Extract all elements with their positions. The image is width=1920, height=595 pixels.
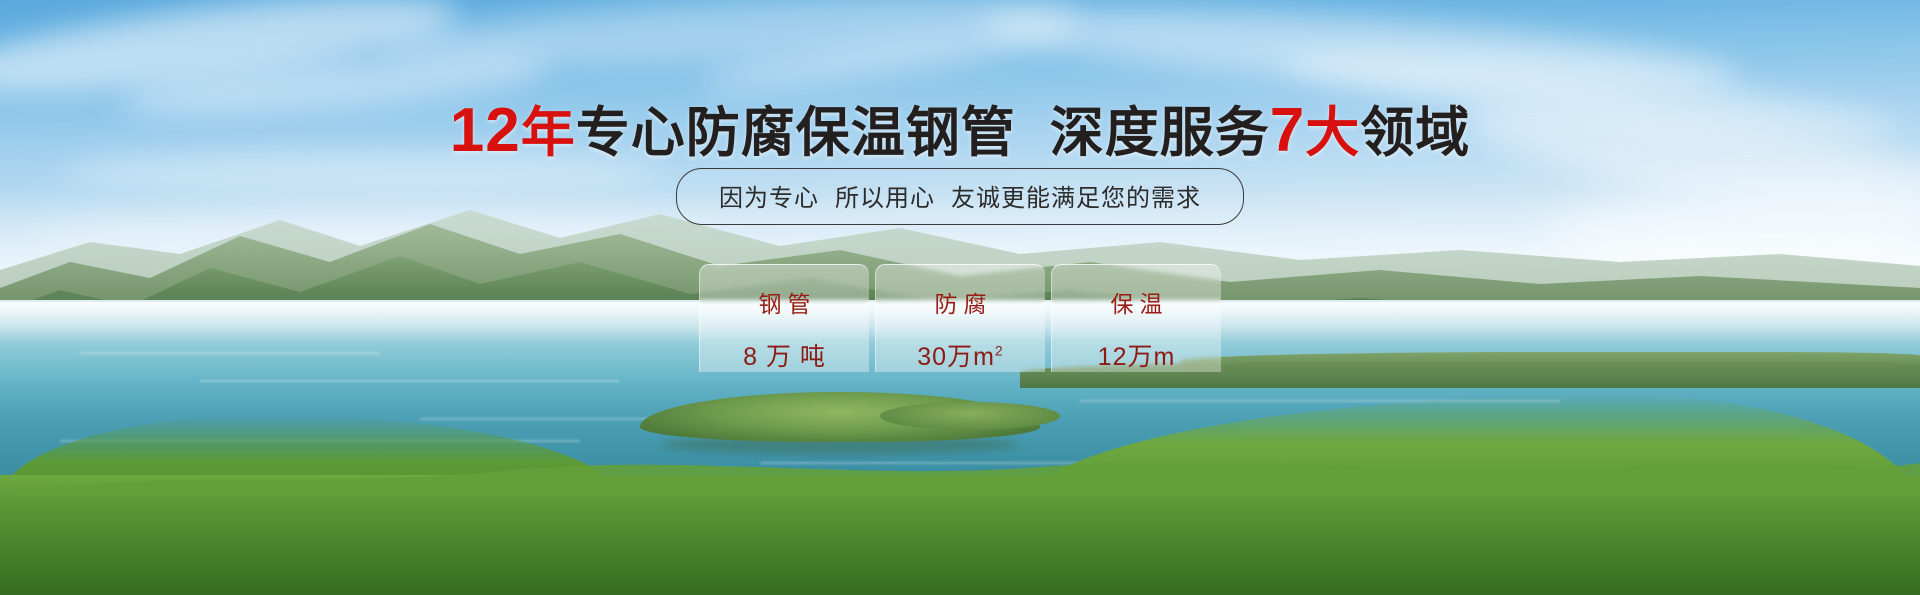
stat-card-label: 保温 bbox=[1052, 285, 1221, 319]
headline-seven-unit: 大 bbox=[1305, 103, 1360, 163]
stat-card-value-sup: 2 bbox=[995, 343, 1004, 359]
headline-part2: 深度服务 bbox=[1050, 103, 1270, 163]
headline-years-number: 12 bbox=[450, 96, 521, 165]
stat-card-label: 钢管 bbox=[700, 285, 869, 319]
stat-card-list: 钢管 8 万 吨 防腐 30万m2 保温 12万m bbox=[0, 264, 1920, 372]
stat-card-gangguan[interactable]: 钢管 8 万 吨 bbox=[699, 264, 869, 372]
stat-card-value-text: 8 万 吨 bbox=[743, 343, 826, 371]
stat-card-value: 30万m2 bbox=[876, 337, 1045, 373]
subtitle-segment-1: 因为专心 bbox=[719, 185, 819, 212]
stat-card-fangfu[interactable]: 防腐 30万m2 bbox=[875, 264, 1045, 372]
stat-card-baowen[interactable]: 保温 12万m bbox=[1051, 264, 1221, 372]
subtitle-segment-3: 友诚更能满足您的需求 bbox=[951, 185, 1201, 212]
page-title: 12年专心防腐保温钢管深度服务7大领域 bbox=[0, 88, 1920, 167]
water-ripple bbox=[200, 380, 620, 382]
subtitle-container: 因为专心所以用心友诚更能满足您的需求 bbox=[0, 168, 1920, 225]
subtitle-segment-2: 所以用心 bbox=[835, 185, 935, 212]
stat-card-value: 12万m bbox=[1052, 337, 1221, 373]
headline-part3: 领域 bbox=[1360, 103, 1470, 163]
headline-seven-number: 7 bbox=[1270, 96, 1305, 165]
stat-card-value: 8 万 吨 bbox=[700, 337, 869, 373]
subtitle-pill: 因为专心所以用心友诚更能满足您的需求 bbox=[676, 168, 1244, 225]
stat-card-label: 防腐 bbox=[876, 285, 1045, 319]
stat-card-value-text: 30万m bbox=[917, 343, 995, 371]
stat-card-value-text: 12万m bbox=[1098, 343, 1176, 371]
hero-banner: 12年专心防腐保温钢管深度服务7大领域 因为专心所以用心友诚更能满足您的需求 钢… bbox=[0, 0, 1920, 595]
headline-years-unit: 年 bbox=[521, 103, 576, 163]
grass-edge bbox=[0, 449, 1920, 495]
headline-part1: 专心防腐保温钢管 bbox=[576, 103, 1016, 163]
grass-island bbox=[880, 402, 1060, 430]
